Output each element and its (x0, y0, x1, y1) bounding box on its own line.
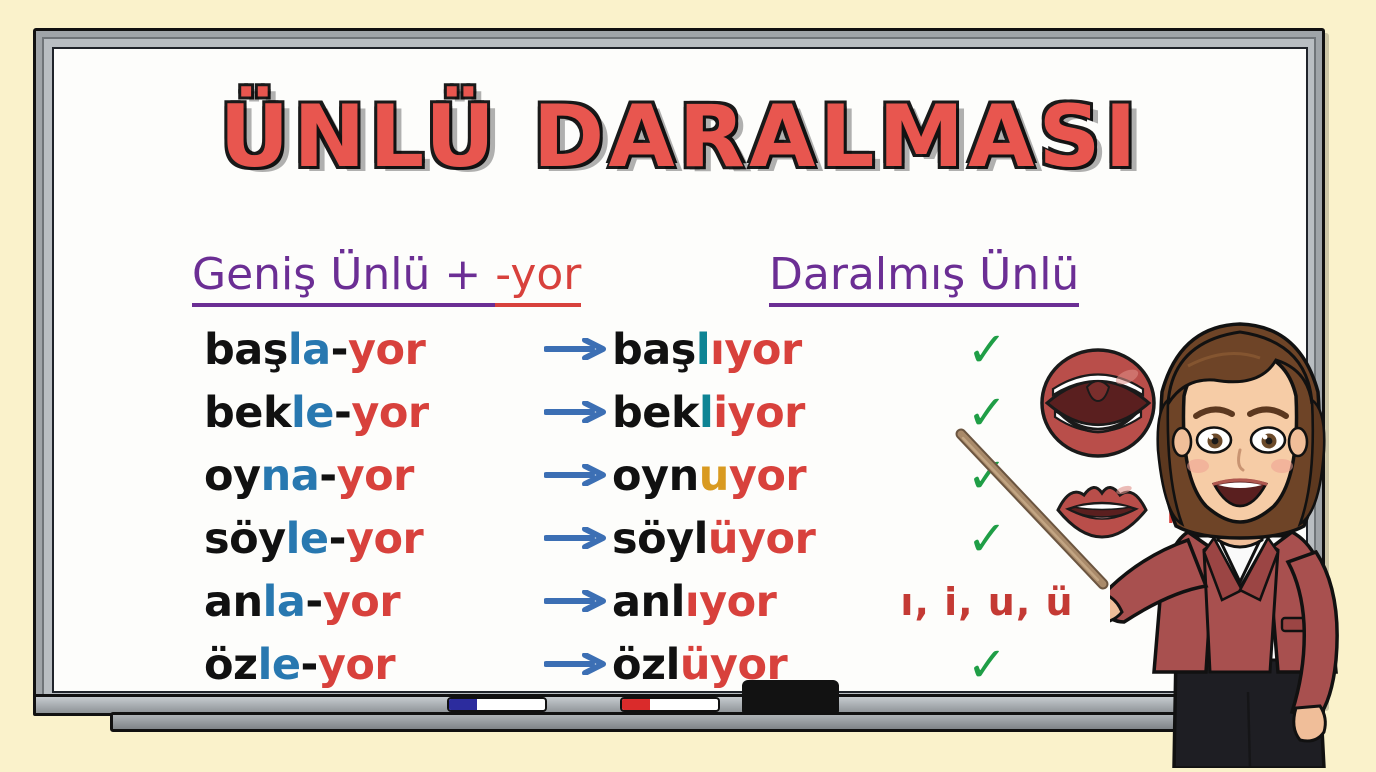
column-header-left-red: -yor (495, 249, 581, 307)
blue-marker-cap (449, 699, 477, 710)
source-word: oyna-yor (204, 445, 414, 508)
source-word-segment: le (291, 388, 334, 438)
result-word-segment: özl (612, 640, 680, 690)
result-word: söylüyor (612, 508, 815, 571)
result-word-segment: bek (612, 388, 699, 438)
source-word: bekle-yor (204, 382, 429, 445)
arrow-right-icon (544, 382, 606, 445)
source-word-segment: söy (204, 514, 286, 564)
result-word-segment: baş (612, 325, 696, 375)
red-marker-cap (622, 699, 650, 710)
result-word-segment: l (699, 388, 713, 438)
source-word-segment: yor (337, 451, 414, 501)
source-word: özle-yor (204, 634, 395, 693)
source-word-segment: la (263, 577, 306, 627)
board-eraser[interactable] (742, 680, 839, 714)
result-word: anlıyor (612, 571, 776, 634)
arrow-right-icon (544, 571, 606, 634)
teacher-avatar (1110, 300, 1376, 768)
check-icon: ✓ (967, 319, 1007, 382)
source-word-segment: la (288, 325, 331, 375)
red-marker[interactable] (620, 697, 720, 712)
source-word: söyle-yor (204, 508, 423, 571)
source-word-segment: öz (204, 640, 258, 690)
result-word-segment: l (696, 325, 710, 375)
result-word-segment: üyor (708, 514, 815, 564)
source-word-segment: yor (323, 577, 400, 627)
source-word-segment: le (286, 514, 329, 564)
arrow-right-icon (544, 634, 606, 693)
column-header-left-purple: Geniş Ünlü + (192, 249, 495, 307)
source-word-segment: baş (204, 325, 288, 375)
source-word-segment: an (204, 577, 263, 627)
source-word: başla-yor (204, 319, 425, 382)
result-word-segment: anl (612, 577, 685, 627)
source-word-segment: - (334, 388, 351, 438)
arrow-right-icon (544, 508, 606, 571)
result-word: oynuyor (612, 445, 806, 508)
source-word-segment: yor (351, 388, 428, 438)
result-word-segment: oyn (612, 451, 699, 501)
source-word-segment: yor (346, 514, 423, 564)
source-word-segment: - (305, 577, 322, 627)
result-word-segment: yor (729, 451, 806, 501)
example-row: özle-yorözlüyor✓ (172, 634, 1272, 693)
marker-tray-front (110, 712, 1250, 732)
page-title: ÜNLÜ DARALMASI (54, 87, 1306, 187)
source-word-segment: - (329, 514, 346, 564)
source-word-segment: oy (204, 451, 261, 501)
source-word-segment: na (261, 451, 320, 501)
pointer-stick-icon (953, 428, 1125, 600)
source-word: anla-yor (204, 571, 400, 634)
blue-marker[interactable] (447, 697, 547, 712)
result-word-segment: ıyor (685, 577, 777, 627)
source-word-segment: - (331, 325, 348, 375)
column-header-left: Geniş Ünlü + -yor (192, 249, 581, 300)
result-word: başlıyor (612, 319, 802, 382)
check-icon: ✓ (967, 634, 1007, 693)
result-word-segment: iyor (713, 388, 805, 438)
source-word-segment: - (300, 640, 317, 690)
column-header-right: Daralmış Ünlü (769, 249, 1079, 300)
result-word-segment: u (699, 451, 729, 501)
narrowed-vowel-cell: ✓ (872, 634, 1102, 693)
arrow-right-icon (544, 445, 606, 508)
arrow-right-icon (544, 319, 606, 382)
result-word-segment: ıyor (710, 325, 802, 375)
source-word-segment: bek (204, 388, 291, 438)
result-word-segment: söyl (612, 514, 708, 564)
result-word: bekliyor (612, 382, 805, 445)
source-word-segment: - (319, 451, 336, 501)
column-header-right-label: Daralmış Ünlü (769, 249, 1079, 307)
source-word-segment: le (258, 640, 301, 690)
source-word-segment: yor (318, 640, 395, 690)
source-word-segment: yor (348, 325, 425, 375)
